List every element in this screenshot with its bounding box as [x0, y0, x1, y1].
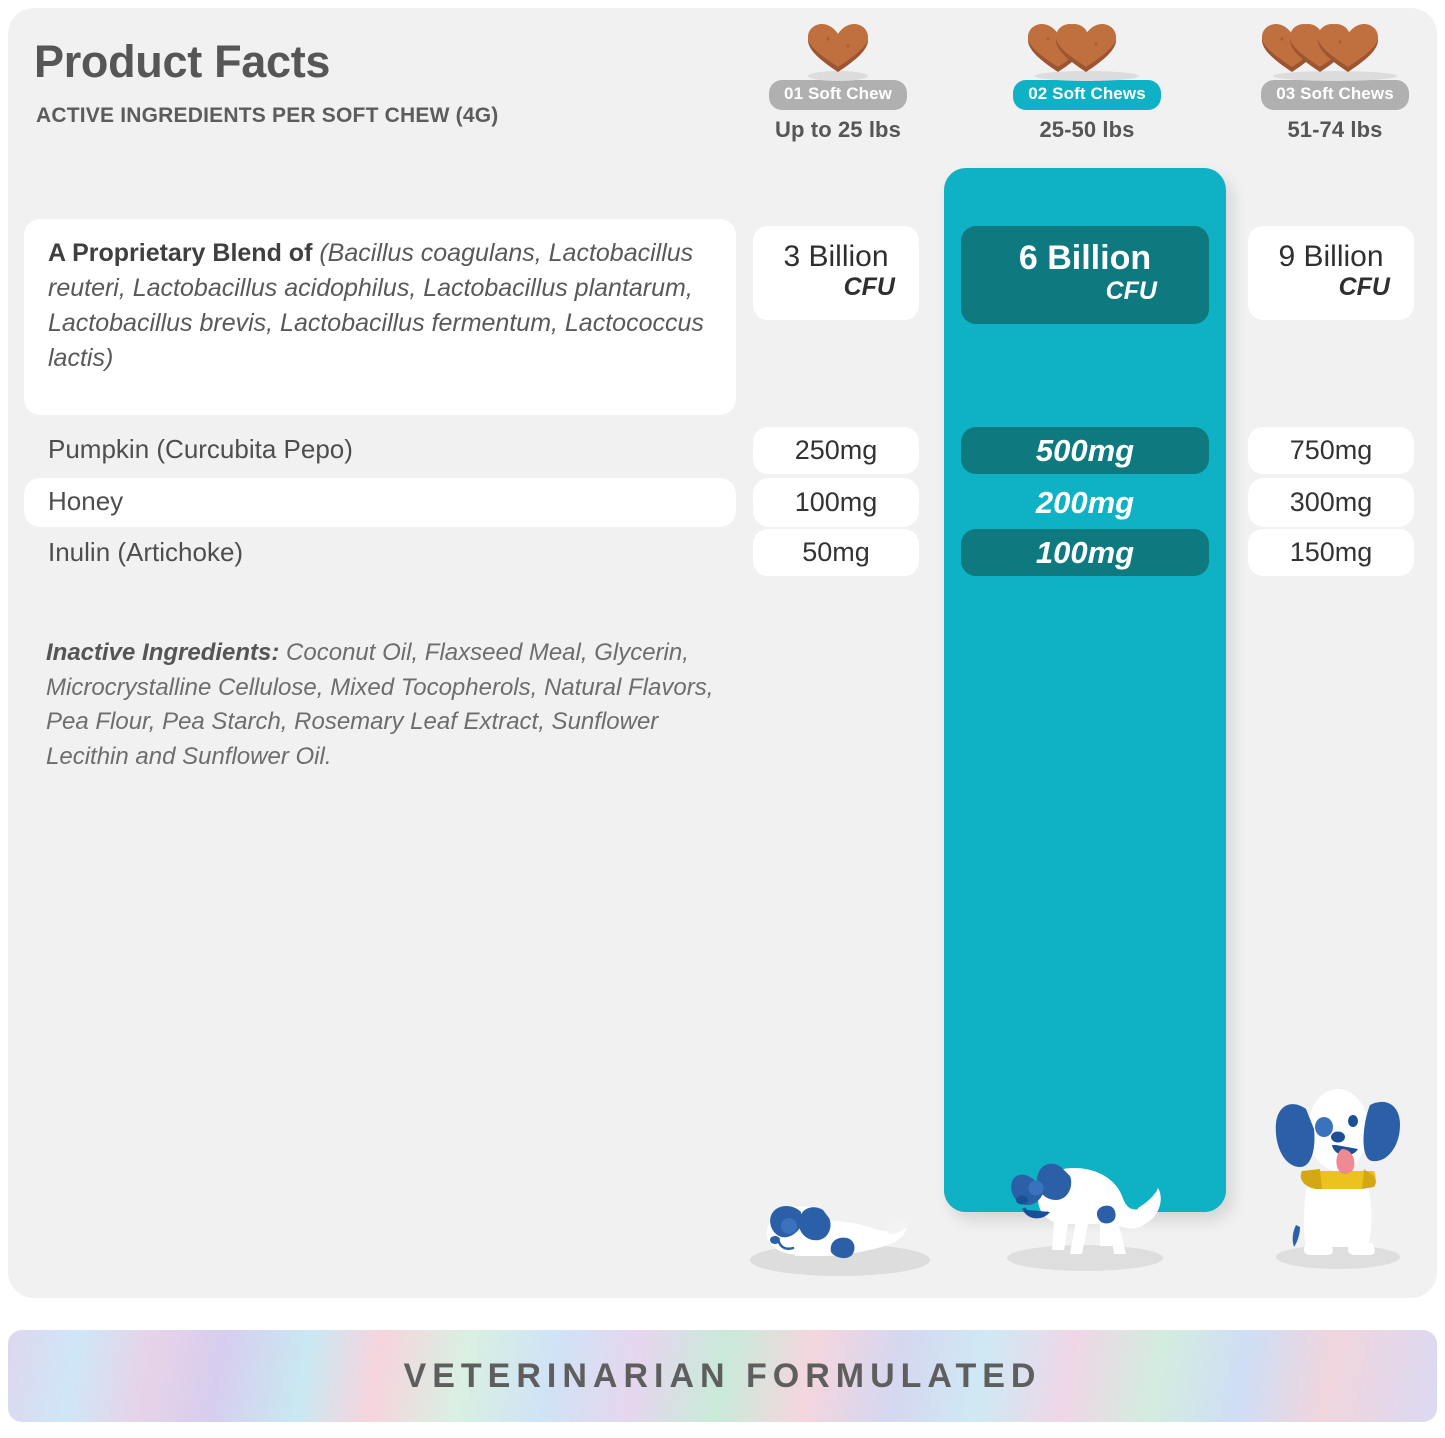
blend-amount-3: 9 Billion — [1248, 240, 1414, 273]
ingredient-value-2-2: 200mg — [961, 479, 1209, 526]
blend-lead: A Proprietary Blend of — [48, 239, 312, 267]
dose-column-1[interactable]: 01 Soft Chew Up to 25 lbs — [745, 18, 931, 143]
three-soft-chews-icon — [1242, 18, 1428, 80]
ingredient-value-1-3: 750mg — [1248, 427, 1414, 474]
dose-weight-1: Up to 25 lbs — [745, 117, 931, 143]
small-dog-lying-icon — [735, 1168, 940, 1283]
blend-value-cell-3: 9 Billion CFU — [1248, 226, 1414, 320]
ingredient-value-1-1: 250mg — [753, 427, 919, 474]
ingredient-label-3: Inulin (Artichoke) — [48, 537, 243, 568]
veterinarian-formulated-banner: VETERINARIAN FORMULATED — [8, 1330, 1437, 1422]
page-subtitle: ACTIVE INGREDIENTS PER SOFT CHEW (4G) — [36, 104, 498, 128]
two-soft-chews-icon — [994, 18, 1180, 80]
blend-unit-3: CFU — [1248, 273, 1414, 302]
dose-column-headers: 01 Soft Chew Up to 25 lbs 02 Soft Chews … — [745, 18, 1435, 158]
blend-unit-1: CFU — [753, 273, 919, 302]
dose-column-3[interactable]: 03 Soft Chews 51-74 lbs — [1242, 18, 1428, 143]
ingredient-label-1: Pumpkin (Curcubita Pepo) — [48, 434, 353, 465]
blend-value-cell-2: 6 Billion CFU — [961, 226, 1209, 324]
ingredient-value-3-2: 100mg — [961, 529, 1209, 576]
banner-text: VETERINARIAN FORMULATED — [8, 1330, 1437, 1422]
dose-badge-2: 02 Soft Chews — [1013, 80, 1161, 110]
highlight-column — [944, 168, 1226, 1212]
blend-amount-2: 6 Billion — [961, 240, 1209, 277]
dose-badge-1: 01 Soft Chew — [769, 80, 907, 110]
large-dog-sitting-icon — [1258, 1075, 1418, 1280]
blend-amount-1: 3 Billion — [753, 240, 919, 273]
ingredient-value-3-1: 50mg — [753, 529, 919, 576]
ingredient-label-2: Honey — [48, 486, 123, 517]
ingredient-value-3-3: 150mg — [1248, 529, 1414, 576]
ingredient-row-stripe-2 — [24, 478, 736, 527]
page-title: Product Facts — [34, 36, 330, 88]
dose-weight-2: 25-50 lbs — [994, 117, 1180, 143]
dose-column-2[interactable]: 02 Soft Chews 25-50 lbs — [994, 18, 1180, 143]
blend-description: A Proprietary Blend of (Bacillus coagula… — [48, 236, 713, 376]
ingredient-value-2-3: 300mg — [1248, 479, 1414, 526]
dose-weight-3: 51-74 lbs — [1242, 117, 1428, 143]
medium-dog-walking-icon — [990, 1128, 1180, 1278]
ingredient-value-1-2: 500mg — [961, 427, 1209, 474]
one-soft-chew-icon — [745, 18, 931, 80]
blend-unit-2: CFU — [961, 277, 1209, 306]
dose-badge-3: 03 Soft Chews — [1261, 80, 1409, 110]
ingredient-value-2-1: 100mg — [753, 479, 919, 526]
inactive-label: Inactive Ingredients: — [46, 639, 279, 666]
inactive-ingredients: Inactive Ingredients: Coconut Oil, Flaxs… — [46, 636, 746, 774]
blend-value-cell-1: 3 Billion CFU — [753, 226, 919, 320]
